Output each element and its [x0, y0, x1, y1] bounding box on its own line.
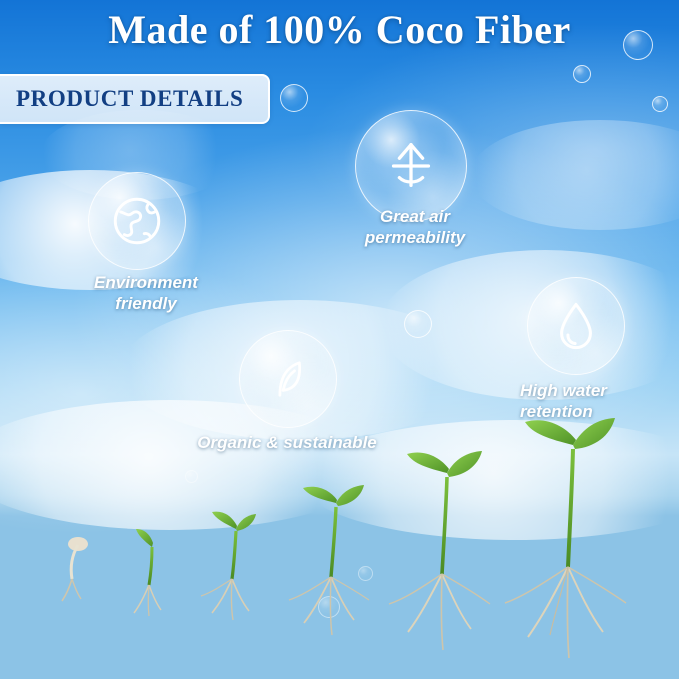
decorative-bubble	[404, 310, 432, 338]
product-details-label: PRODUCT DETAILS	[16, 86, 243, 112]
page-title: Made of 100% Coco Fiber	[0, 6, 679, 53]
product-feature-poster: Made of 100% Coco Fiber PRODUCT DETAILS …	[0, 0, 679, 679]
feature-caption-environment-friendly: Environment friendly	[66, 272, 226, 314]
globe-leaf-icon	[108, 192, 166, 250]
product-details-ribbon: PRODUCT DETAILS	[0, 74, 270, 124]
water-drop-icon	[552, 299, 600, 353]
decorative-bubble	[573, 65, 591, 83]
decorative-bubble	[652, 96, 668, 112]
feature-bubble-environment-friendly[interactable]	[88, 172, 186, 270]
decorative-bubble	[280, 84, 308, 112]
air-flow-arrow-icon	[380, 135, 442, 197]
cloud-shape	[470, 120, 679, 230]
feature-caption-great-air-permeability: Great air permeability	[335, 206, 495, 248]
feature-bubble-high-water-retention[interactable]	[527, 277, 625, 375]
